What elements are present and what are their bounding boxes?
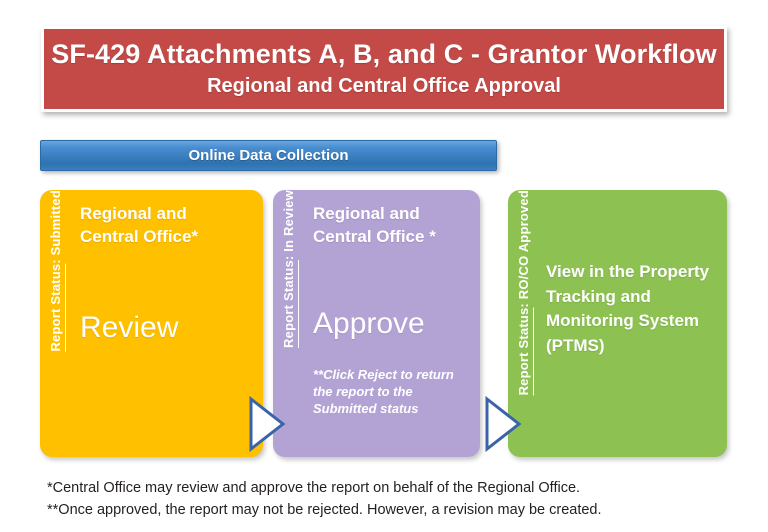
footnotes: *Central Office may review and approve t…	[47, 477, 737, 522]
stage-action-approve: Approve	[313, 307, 468, 340]
status-label-approve-value: : In Review	[281, 190, 296, 260]
title-line-primary: SF-429 Attachments A, B, and C - Grantor…	[51, 39, 716, 70]
stage-box-approve: Report Status: In Review Regional and Ce…	[273, 190, 480, 457]
stage-main-ptms: View in the Property Tracking and Monito…	[546, 260, 717, 359]
stage-body-ptms: View in the Property Tracking and Monito…	[546, 190, 717, 457]
status-rail-review: Report Status: Submitted	[40, 190, 70, 457]
stage-box-review: Report Status: Submitted Regional and Ce…	[40, 190, 263, 457]
status-label-ptms-value: : RO/CO Approved	[516, 190, 531, 308]
stage-body-review: Regional and Central Office* Review	[80, 190, 251, 457]
online-data-collection-label: Online Data Collection	[188, 147, 348, 164]
stage-org-review-line2: Central Office*	[80, 226, 251, 249]
status-label-review: Report Status: Submitted	[48, 190, 63, 356]
title-banner: SF-429 Attachments A, B, and C - Grantor…	[41, 26, 727, 112]
stage-org-review-line1: Regional and	[80, 203, 251, 226]
stage-body-approve: Regional and Central Office * Approve **…	[313, 190, 468, 457]
stage-main-ptms-line3: Monitoring System	[546, 309, 717, 334]
status-label-approve-prefix: Report Status	[281, 260, 296, 348]
stage-main-ptms-line2: Tracking and	[546, 285, 717, 310]
stage-org-approve: Regional and Central Office *	[313, 190, 468, 249]
footnote-double-asterisk: **Once approved, the report may not be r…	[47, 499, 737, 521]
stage-action-review: Review	[80, 311, 251, 344]
status-label-ptms-prefix: Report Status	[516, 308, 531, 396]
stage-note-approve: **Click Reject to return the report to t…	[313, 366, 468, 417]
stage-box-ptms: Report Status: RO/CO Approved View in th…	[508, 190, 727, 457]
status-label-review-prefix: Report Status	[48, 264, 63, 352]
arrow-right-icon	[247, 396, 287, 452]
stage-org-approve-line1: Regional and	[313, 203, 468, 226]
status-label-ptms: Report Status: RO/CO Approved	[516, 190, 531, 399]
arrow-right-icon	[483, 396, 523, 452]
online-data-collection-bar: Online Data Collection	[40, 140, 497, 171]
stage-main-ptms-line4: (PTMS)	[546, 334, 717, 359]
footnote-single-asterisk: *Central Office may review and approve t…	[47, 477, 737, 499]
stage-main-ptms-line1: View in the Property	[546, 260, 717, 285]
stage-org-approve-line2: Central Office *	[313, 226, 468, 249]
stage-org-review: Regional and Central Office*	[80, 190, 251, 249]
status-label-approve: Report Status: In Review	[281, 190, 296, 352]
status-label-review-value: : Submitted	[48, 190, 63, 264]
title-line-secondary: Regional and Central Office Approval	[207, 73, 561, 99]
